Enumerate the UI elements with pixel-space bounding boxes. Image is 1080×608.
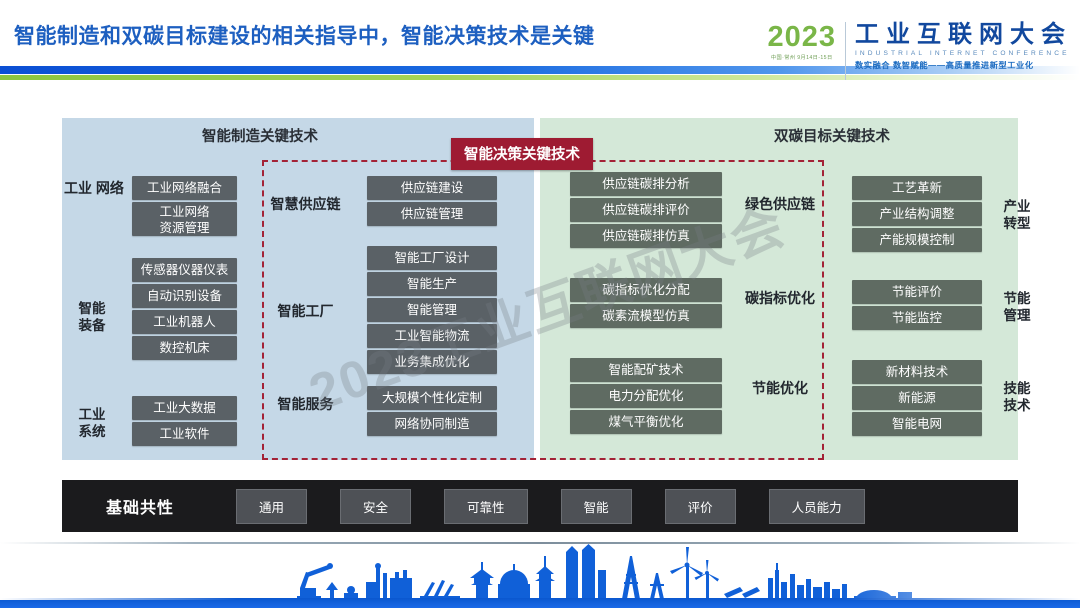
logo-name-block: 工业互联网大会 INDUSTRIAL INTERNET CONFERENCE 数… xyxy=(855,22,1072,71)
tech-chip[interactable]: 网络协同制造 xyxy=(367,412,497,436)
tech-chip[interactable]: 智能配矿技术 xyxy=(570,358,722,382)
tech-chip[interactable]: 供应链碳排分析 xyxy=(570,172,722,196)
group-label: 绿色供应链 xyxy=(724,196,836,213)
tech-chip[interactable]: 工业网络资源管理 xyxy=(132,202,237,236)
tech-chip[interactable]: 碳素流模型仿真 xyxy=(570,304,722,328)
tech-chip[interactable]: 传感器仪器仪表 xyxy=(132,258,237,282)
tech-chip[interactable]: 智能生产 xyxy=(367,272,497,296)
tech-chip[interactable]: 工业网络融合 xyxy=(132,176,237,200)
tech-chip[interactable]: 工业软件 xyxy=(132,422,237,446)
tech-chip[interactable]: 智能工厂设计 xyxy=(367,246,497,270)
tech-chip[interactable]: 工业机器人 xyxy=(132,310,237,334)
group-label: 智慧供应链 xyxy=(248,196,363,213)
logo-name-cn: 工业互联网大会 xyxy=(855,22,1072,48)
group-label: 节能管理 xyxy=(988,290,1046,324)
group-label: 技能技术 xyxy=(988,380,1046,414)
badge-intelligent-decision: 智能决策关键技术 xyxy=(451,138,593,170)
heading-dual-carbon: 双碳目标关键技术 xyxy=(774,125,890,146)
group-label: 智能工厂 xyxy=(248,303,363,320)
tech-chip[interactable]: 煤气平衡优化 xyxy=(570,410,722,434)
group-label: 碳指标优化 xyxy=(724,290,836,307)
tech-chip[interactable]: 电力分配优化 xyxy=(570,384,722,408)
tech-chip[interactable]: 工业智能物流 xyxy=(367,324,497,348)
logo-name-en: INDUSTRIAL INTERNET CONFERENCE xyxy=(855,50,1072,57)
logo-year-subtitle: 中国·常州 9月14日-15日 xyxy=(767,54,836,61)
foundation-title: 基础共性 xyxy=(106,494,174,518)
tech-chip[interactable]: 智能电网 xyxy=(852,412,982,436)
group-label: 智能服务 xyxy=(248,396,363,413)
logo-year: 2023 xyxy=(767,22,836,52)
tech-chip[interactable]: 自动识别设备 xyxy=(132,284,237,308)
page-title: 智能制造和双碳目标建设的相关指导中，智能决策技术是关键 xyxy=(14,20,595,50)
logo-year-block: 2023 中国·常州 9月14日-15日 xyxy=(767,22,845,61)
foundation-tag[interactable]: 安全 xyxy=(340,489,411,524)
foundation-tag[interactable]: 评价 xyxy=(665,489,736,524)
conference-logo: 2023 中国·常州 9月14日-15日 工业互联网大会 INDUSTRIAL … xyxy=(767,22,1072,80)
foundation-tag[interactable]: 智能 xyxy=(561,489,632,524)
tech-chip[interactable]: 业务集成优化 xyxy=(367,350,497,374)
tech-chip[interactable]: 供应链建设 xyxy=(367,176,497,200)
tech-chip[interactable]: 供应链管理 xyxy=(367,202,497,226)
foundation-tag[interactable]: 通用 xyxy=(236,489,307,524)
foundation-tag[interactable]: 人员能力 xyxy=(769,489,865,524)
foundation-tag-list: 通用安全可靠性智能评价人员能力 xyxy=(236,489,865,524)
tech-chip[interactable]: 大规模个性化定制 xyxy=(367,386,497,410)
group-label: 工业 网络 xyxy=(64,180,120,197)
industrial-skyline-graphic xyxy=(0,544,1080,608)
logo-divider xyxy=(845,22,846,80)
group-label: 工业系统 xyxy=(64,406,120,440)
logo-tagline: 数实融合 数智赋能——高质量推进新型工业化 xyxy=(855,59,1072,71)
tech-chip[interactable]: 供应链碳排评价 xyxy=(570,198,722,222)
group-label: 节能优化 xyxy=(724,380,836,397)
tech-chip[interactable]: 产业结构调整 xyxy=(852,202,982,226)
tech-chip[interactable]: 新材料技术 xyxy=(852,360,982,384)
tech-chip[interactable]: 节能评价 xyxy=(852,280,982,304)
tech-chip[interactable]: 节能监控 xyxy=(852,306,982,330)
group-label: 产业转型 xyxy=(988,198,1046,232)
tech-chip[interactable]: 产能规模控制 xyxy=(852,228,982,252)
foundation-bar: 基础共性 通用安全可靠性智能评价人员能力 xyxy=(62,480,1018,532)
tech-chip[interactable]: 工艺革新 xyxy=(852,176,982,200)
tech-chip[interactable]: 数控机床 xyxy=(132,336,237,360)
tech-chip[interactable]: 新能源 xyxy=(852,386,982,410)
tech-chip[interactable]: 工业大数据 xyxy=(132,396,237,420)
slide-root: 智能制造和双碳目标建设的相关指导中，智能决策技术是关键 2023 中国·常州 9… xyxy=(0,0,1080,608)
slide-header: 智能制造和双碳目标建设的相关指导中，智能决策技术是关键 2023 中国·常州 9… xyxy=(0,0,1080,100)
tech-chip[interactable]: 智能管理 xyxy=(367,298,497,322)
group-label: 智能装备 xyxy=(64,300,120,334)
tech-chip[interactable]: 供应链碳排仿真 xyxy=(570,224,722,248)
slide-footer xyxy=(0,542,1080,608)
architecture-diagram: 智能制造关键技术 双碳目标关键技术 智能决策关键技术 2023工业互联网大会 工… xyxy=(62,118,1018,460)
tech-chip[interactable]: 碳指标优化分配 xyxy=(570,278,722,302)
foundation-tag[interactable]: 可靠性 xyxy=(444,489,528,524)
heading-smart-manufacturing: 智能制造关键技术 xyxy=(202,125,318,146)
